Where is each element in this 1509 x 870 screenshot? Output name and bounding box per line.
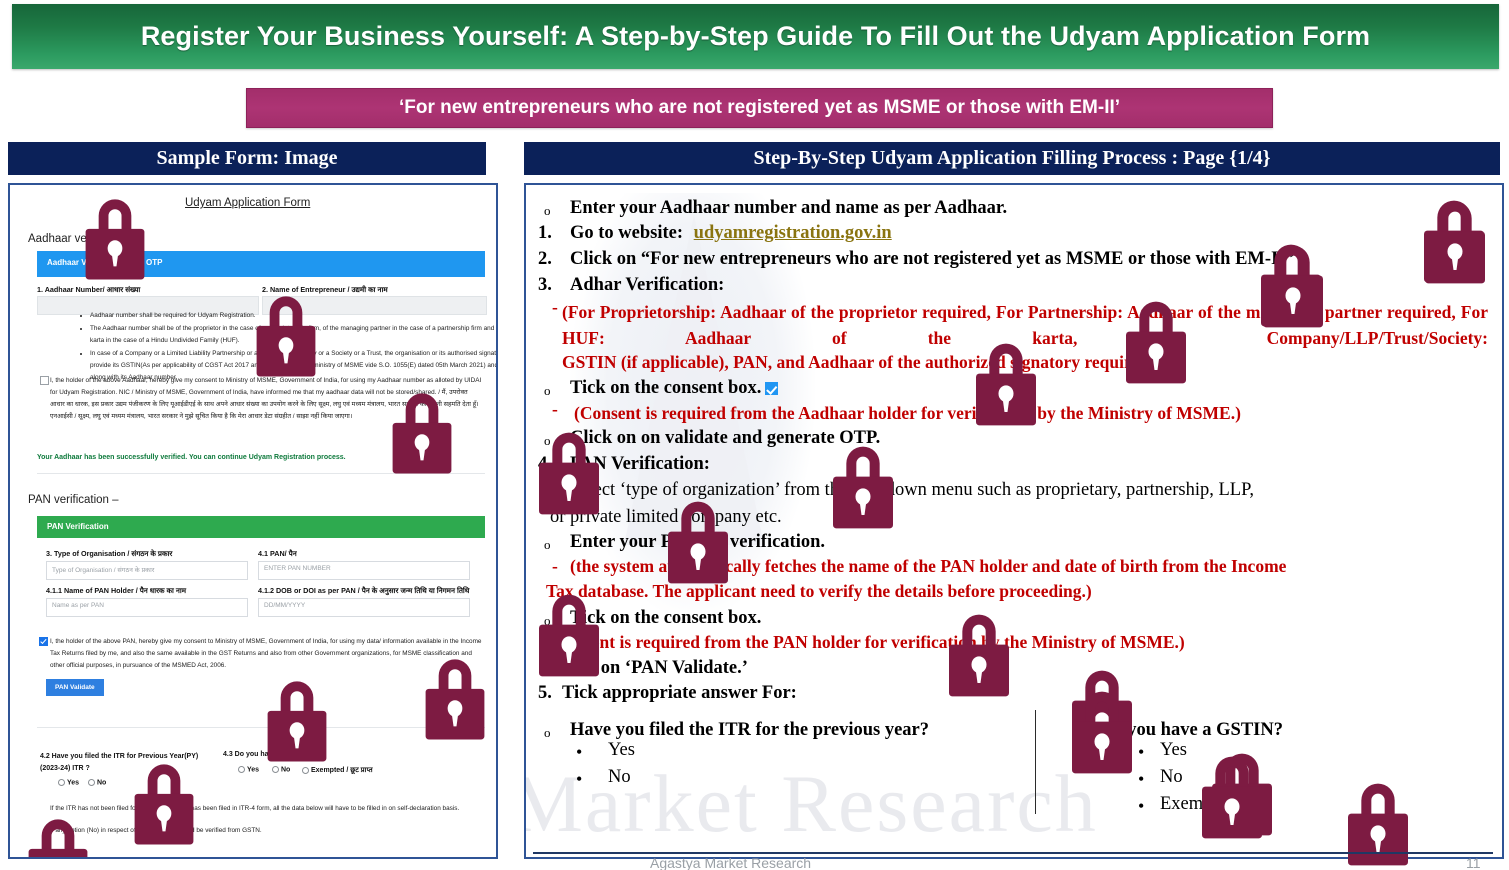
question-itr-filed: Have you filed the ITR for the previous … xyxy=(570,720,929,741)
itr-question: 4.2 Have you filed the ITR for Previous … xyxy=(40,751,220,775)
gstin-answer-yes[interactable]: Yes xyxy=(1160,740,1187,761)
left-panel-header: Sample Form: Image xyxy=(8,142,486,175)
slide-title-banner: Register Your Business Yourself: A Step-… xyxy=(12,4,1499,69)
left-panel-header-text: Sample Form: Image xyxy=(156,147,337,170)
step-5-number: 4. xyxy=(538,454,552,475)
pan-dob-label: 4.1.2 DOB or DOI as per PAN / पैन के अनु… xyxy=(258,586,469,596)
pan-label: 4.1 PAN/ पैन xyxy=(258,549,297,559)
note-aadhaar-requirements: (For Proprietorship: Aadhaar of the prop… xyxy=(562,300,1488,351)
note-pan-autofetch: (the system automatically fetches the na… xyxy=(570,556,1286,577)
step-4-number: 3. xyxy=(538,275,552,296)
divider xyxy=(37,727,485,728)
aadhaar-success-message: Your Aadhaar has been successfully verif… xyxy=(37,454,346,461)
step-adhar-verification: Adhar Verification: xyxy=(570,275,724,296)
pan-dob-input[interactable]: DD/MM/YYYY xyxy=(258,598,470,617)
aadhaar-note-item: The Aadhaar number shall be of the propr… xyxy=(90,323,498,347)
gstin-answer-exempted[interactable]: Exempted xyxy=(1160,794,1235,815)
pan-input[interactable]: ENTER PAN NUMBER xyxy=(258,561,470,580)
itr-answer-no[interactable]: No xyxy=(608,767,631,788)
sample-form-panel: Udyam Application Form Aadhaar verificat… xyxy=(8,183,498,859)
itr-option-yes[interactable]: Yes xyxy=(58,779,79,786)
pan-holder-name-label: 4.1.1 Name of PAN Holder / पैन धारक का न… xyxy=(46,586,186,596)
gstin-question: 4.3 Do you have GSTIN ? xyxy=(223,751,306,758)
radio-icon xyxy=(302,767,309,774)
gstin-option-yes[interactable]: Yes xyxy=(238,766,259,773)
step-tick-appropriate-answer: Tick appropriate answer For: xyxy=(562,683,797,704)
pan-validate-button[interactable]: PAN Validate xyxy=(46,679,104,696)
itr-answer-yes[interactable]: Yes xyxy=(608,740,635,761)
checked-checkbox-icon[interactable] xyxy=(765,382,778,395)
pan-dob-placeholder: DD/MM/YYYY xyxy=(264,602,305,609)
bullet-marker: o xyxy=(544,203,551,219)
entrepreneur-name-label: 2. Name of Entrepreneur / उद्यमी का नाम xyxy=(262,285,388,295)
aadhaar-verification-bar-label: Aadhaar Verification With OTP xyxy=(47,258,163,267)
gstin-answer-no[interactable]: No xyxy=(1160,767,1183,788)
radio-icon xyxy=(238,766,245,773)
itr-note: If the ITR has not been filed for some r… xyxy=(50,805,459,812)
step-select-org-type-cont: or private limited company etc. xyxy=(550,507,782,528)
bullet-marker: o xyxy=(544,537,551,553)
pan-holder-name-input[interactable]: Name as per PAN xyxy=(46,598,248,617)
step-tick-consent-pan: Tick on the consent box. xyxy=(570,608,761,629)
gstin-option-exempted[interactable]: Exempted / छूट प्राप्त xyxy=(302,766,373,775)
radio-icon xyxy=(58,779,65,786)
gstin-option-no[interactable]: No xyxy=(272,766,290,773)
radio-icon xyxy=(272,766,279,773)
itr-option-no[interactable]: No xyxy=(88,779,106,786)
aadhaar-notes-list: Aadhaar number shall be required for Udy… xyxy=(50,310,498,384)
pan-holder-name-placeholder: Name as per PAN xyxy=(52,602,104,609)
right-panel-header-text: Step-By-Step Udyam Application Filling P… xyxy=(753,147,1270,170)
step-go-to-website-label: Go to website: xyxy=(570,223,683,243)
bullet-marker: o xyxy=(544,485,551,501)
pan-section-label: PAN verification – xyxy=(28,494,119,506)
sample-form-screenshot: Udyam Application Form Aadhaar verificat… xyxy=(10,185,496,857)
bullet-dot: • xyxy=(576,742,582,763)
bullet-marker: o xyxy=(544,663,551,679)
bullet-marker: o xyxy=(544,725,551,741)
step-enter-pan: Enter your PAN for verification. xyxy=(570,532,825,553)
pan-consent-checkbox[interactable] xyxy=(39,637,48,646)
note-dash: - xyxy=(552,399,558,420)
udyam-registration-link[interactable]: udyamregistration.gov.in xyxy=(694,223,892,243)
step-click-new-entrepreneurs: Click on “For new entrepreneurs who are … xyxy=(570,249,1295,270)
footer-text: Agastya Market Research xyxy=(650,855,811,870)
pan-placeholder: ENTER PAN NUMBER xyxy=(264,565,331,572)
steps-panel: Market Research o Enter your Aadhaar num… xyxy=(524,183,1504,859)
step-tick-consent-aadhaar: Tick on the consent box. xyxy=(570,378,778,399)
bullet-marker: o xyxy=(544,383,551,399)
divider xyxy=(37,473,485,474)
step-2-number: 1. xyxy=(538,223,552,244)
note-aadhaar-consent: (Consent is required from the Aadhaar ho… xyxy=(574,403,1241,424)
type-of-organisation-select[interactable]: Type of Organisation / संगठन के प्रकार xyxy=(46,561,248,580)
bullet-dot: • xyxy=(1138,742,1144,763)
step-enter-aadhaar: Enter your Aadhaar number and name as pe… xyxy=(570,198,1007,219)
column-divider xyxy=(1035,710,1036,814)
pan-verification-bar-label: PAN Verification xyxy=(47,522,109,531)
aadhaar-consent-text: I, the holder of the above Aadhaar, here… xyxy=(50,375,482,422)
bullet-marker: o xyxy=(544,433,551,449)
form-title: Udyam Application Form xyxy=(185,197,310,209)
note-aadhaar-requirements-cont: GSTIN (if applicable), PAN, and Aadhaar … xyxy=(562,352,1159,373)
aadhaar-verification-bar: Aadhaar Verification With OTP xyxy=(37,251,485,277)
steps-list: o Enter your Aadhaar number and name as … xyxy=(526,185,1502,857)
step-select-org-type: Select ‘type of organization’ from the d… xyxy=(570,480,1254,501)
aadhaar-number-label: 1. Aadhaar Number/ आधार संख्या xyxy=(37,285,140,295)
gstin-note: If any option (No) in respect of GSTIN, … xyxy=(50,827,262,834)
aadhaar-section-label: Aadhaar verification – xyxy=(28,233,139,245)
bullet-dot: • xyxy=(1138,796,1144,817)
slide-title-text: Register Your Business Yourself: A Step-… xyxy=(141,21,1370,52)
type-of-organisation-label: 3. Type of Organisation / संगठन के प्रका… xyxy=(46,549,172,559)
footer-page-number: 11 xyxy=(1466,855,1481,870)
slide-root: Register Your Business Yourself: A Step-… xyxy=(0,0,1509,870)
bullet-dot: • xyxy=(1138,769,1144,790)
question-have-gstin: Do you have a GSTIN? xyxy=(1100,720,1283,741)
pan-verification-bar: PAN Verification xyxy=(37,516,485,538)
step-go-to-website: Go to website: udyamregistration.gov.in xyxy=(570,223,892,244)
note-pan-autofetch-cont: Tax database. The applicant need to veri… xyxy=(546,581,1092,602)
bullet-marker: o xyxy=(1074,725,1081,741)
step-pan-verification: PAN Verification: xyxy=(570,454,710,475)
step-6-number: 5. xyxy=(538,683,552,704)
slide-subtitle-banner: ‘For new entrepreneurs who are not regis… xyxy=(246,88,1273,128)
note-dash: - xyxy=(552,556,558,577)
pan-consent-text: I, the holder of the above PAN, hereby g… xyxy=(50,636,482,672)
bullet-dot: • xyxy=(576,769,582,790)
footer-divider xyxy=(533,852,1493,854)
step-3-number: 2. xyxy=(538,249,552,270)
aadhaar-consent-checkbox[interactable] xyxy=(40,376,49,385)
note-pan-consent: (Consent is required from the PAN holder… xyxy=(548,632,1185,653)
step-click-pan-validate: Click on ‘PAN Validate.’ xyxy=(554,658,748,679)
slide-subtitle-text: ‘For new entrepreneurs who are not regis… xyxy=(399,97,1120,119)
note-dash: - xyxy=(552,297,558,318)
aadhaar-note-item: Aadhaar number shall be required for Udy… xyxy=(90,310,498,322)
type-of-organisation-placeholder: Type of Organisation / संगठन के प्रकार xyxy=(52,565,154,574)
bullet-marker: o xyxy=(544,613,551,629)
right-panel-header: Step-By-Step Udyam Application Filling P… xyxy=(524,142,1500,175)
radio-icon xyxy=(88,779,95,786)
step-validate-generate-otp: Click on on validate and generate OTP. xyxy=(570,428,880,449)
